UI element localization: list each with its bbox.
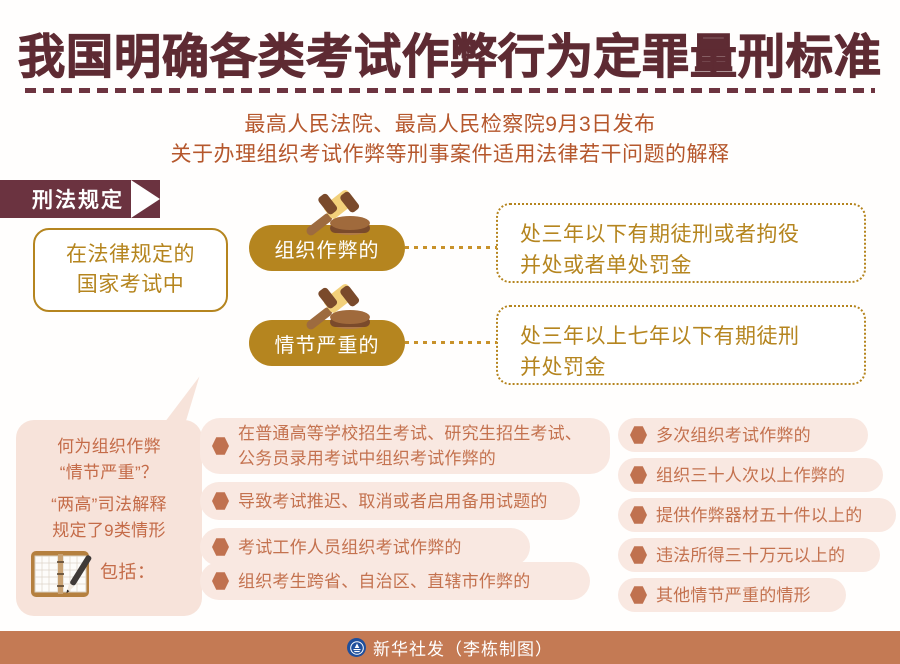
list-item-label: 在普通高等学校招生考试、研究生招生考试、公务员录用考试中组织考试作弊的: [238, 421, 592, 471]
list-item[interactable]: 考试工作人员组织考试作弊的: [200, 528, 530, 566]
list-item[interactable]: 组织考生跨省、自治区、直辖市作弊的: [200, 562, 590, 600]
connector-line-1: [405, 246, 497, 249]
penalty-2-line-2: 并处罚金: [520, 352, 864, 383]
hex-bullet-icon: [630, 546, 647, 565]
list-item-label: 提供作弊器材五十件以上的: [656, 503, 872, 528]
question-line-3: “两高”司法解释: [16, 492, 202, 518]
hex-bullet-icon: [630, 466, 647, 485]
list-item-label: 组织三十人次以上作弊的: [656, 463, 855, 488]
hex-bullet-icon: [630, 586, 647, 605]
penalty-1-line-1: 处三年以下有期徒刑或者拘役: [520, 219, 864, 250]
question-line-4: 规定了9类情形: [16, 518, 202, 544]
subtitle: 最高人民法院、最高人民检察院9月3日发布 关于办理组织考试作弊等刑事案件适用法律…: [0, 110, 900, 170]
include-label: 包括：: [100, 558, 156, 584]
penalty-box-2: 处三年以上七年以下有期徒刑 并处罚金: [496, 305, 866, 385]
condition-box: 在法律规定的 国家考试中: [33, 228, 228, 312]
gavel-icon: [302, 284, 376, 340]
section-banner-label: 刑法规定: [32, 184, 124, 214]
subtitle-line-2: 关于办理组织考试作弊等刑事案件适用法律若干问题的解释: [0, 140, 900, 170]
notebook-pen-icon: [30, 548, 92, 600]
page-title: 我国明确各类考试作弊行为定罪量刑标准: [0, 18, 900, 87]
question-line-2: “情节严重”？: [16, 460, 202, 486]
list-item-label: 组织考生跨省、自治区、直辖市作弊的: [238, 569, 540, 594]
list-item[interactable]: 组织三十人次以上作弊的: [618, 458, 883, 492]
gavel-icon: [302, 190, 376, 246]
section-banner-notch: [131, 180, 160, 218]
question-line-1: 何为组织作弊: [16, 434, 202, 460]
title-divider: [25, 88, 875, 93]
list-item-label: 考试工作人员组织考试作弊的: [238, 535, 472, 560]
hex-bullet-icon: [212, 437, 229, 456]
list-item-label: 多次组织考试作弊的: [656, 423, 821, 448]
list-item[interactable]: 导致考试推迟、取消或者启用备用试题的: [200, 482, 580, 520]
list-item[interactable]: 其他情节严重的情形: [618, 578, 846, 612]
connector-line-2: [405, 341, 497, 344]
hex-bullet-icon: [212, 572, 229, 591]
condition-line-2: 国家考试中: [77, 270, 185, 300]
list-item-label: 导致考试推迟、取消或者启用备用试题的: [238, 489, 558, 514]
list-item-label: 违法所得三十万元以上的: [656, 543, 855, 568]
penalty-2-line-1: 处三年以上七年以下有期徒刑: [520, 321, 864, 352]
hex-bullet-icon: [212, 492, 229, 511]
penalty-box-1: 处三年以下有期徒刑或者拘役 并处或者单处罚金: [496, 203, 866, 283]
hex-bullet-icon: [630, 506, 647, 525]
hex-bullet-icon: [212, 538, 229, 557]
footer-bar: 新华社发（李栋制图）: [0, 631, 900, 664]
subtitle-line-1: 最高人民法院、最高人民检察院9月3日发布: [0, 110, 900, 140]
condition-line-1: 在法律规定的: [66, 240, 195, 270]
hex-bullet-icon: [630, 426, 647, 445]
list-item-label: 其他情节严重的情形: [656, 583, 821, 608]
penalty-1-line-2: 并处或者单处罚金: [520, 250, 864, 281]
infographic-canvas: 我国明确各类考试作弊行为定罪量刑标准 最高人民法院、最高人民检察院9月3日发布 …: [0, 0, 900, 664]
footer-credit: 新华社发（李栋制图）: [373, 635, 553, 660]
list-item[interactable]: 多次组织考试作弊的: [618, 418, 868, 452]
list-item[interactable]: 在普通高等学校招生考试、研究生招生考试、公务员录用考试中组织考试作弊的: [200, 418, 610, 474]
xinhua-logo-icon: [347, 638, 366, 657]
list-item[interactable]: 提供作弊器材五十件以上的: [618, 498, 896, 532]
list-item[interactable]: 违法所得三十万元以上的: [618, 538, 880, 572]
